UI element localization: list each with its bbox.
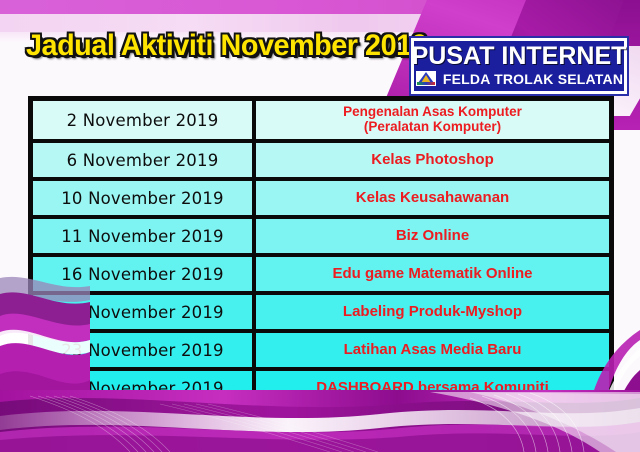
date-cell: 10 November 2019 (31, 179, 254, 217)
activity-line-2: (Peralatan Komputer) (260, 120, 605, 135)
page-title: Jadual Aktiviti November 2019 (26, 29, 427, 63)
date-cell: 2 November 2019 (31, 99, 254, 141)
date-cell: 6 November 2019 (31, 141, 254, 179)
activity-cell: Edu game Matematik Online (254, 255, 611, 293)
date-cell: 11 November 2019 (31, 217, 254, 255)
table-row: 2 November 2019 Pengenalan Asas Komputer… (31, 99, 611, 141)
activity-cell: Pengenalan Asas Komputer (Peralatan Komp… (254, 99, 611, 141)
table-row: 10 November 2019 Kelas Keusahawanan (31, 179, 611, 217)
activity-cell: Latihan Asas Media Baru (254, 331, 611, 369)
table-row: 23 November 2019 Latihan Asas Media Baru (31, 331, 611, 369)
logo-subtitle: FELDA TROLAK SELATAN (443, 72, 623, 86)
activity-cell: Biz Online (254, 217, 611, 255)
activity-cell: Labeling Produk-Myshop (254, 293, 611, 331)
activity-schedule-table: 2 November 2019 Pengenalan Asas Komputer… (28, 96, 614, 410)
table-row: 11 November 2019 Biz Online (31, 217, 611, 255)
felda-triangle-icon (415, 70, 437, 87)
table-row: 6 November 2019 Kelas Photoshop (31, 141, 611, 179)
activity-cell: Kelas Photoshop (254, 141, 611, 179)
table-row: 16 November 2019 Edu game Matematik Onli… (31, 255, 611, 293)
logo-subtitle-row: FELDA TROLAK SELATAN (415, 70, 623, 87)
poster-header: Jadual Aktiviti November 2019 PUSAT INTE… (0, 22, 640, 84)
activity-cell: Kelas Keusahawanan (254, 179, 611, 217)
pusat-internet-logo: PUSAT INTERNET FELDA TROLAK SELATAN (411, 38, 627, 94)
bottom-swoosh-artwork (0, 382, 640, 452)
poster-canvas: Jadual Aktiviti November 2019 PUSAT INTE… (0, 0, 640, 452)
activity-line-1: Pengenalan Asas Komputer (260, 105, 605, 120)
table-row: 20 November 2019 Labeling Produk-Myshop (31, 293, 611, 331)
logo-title: PUSAT INTERNET (412, 44, 627, 69)
